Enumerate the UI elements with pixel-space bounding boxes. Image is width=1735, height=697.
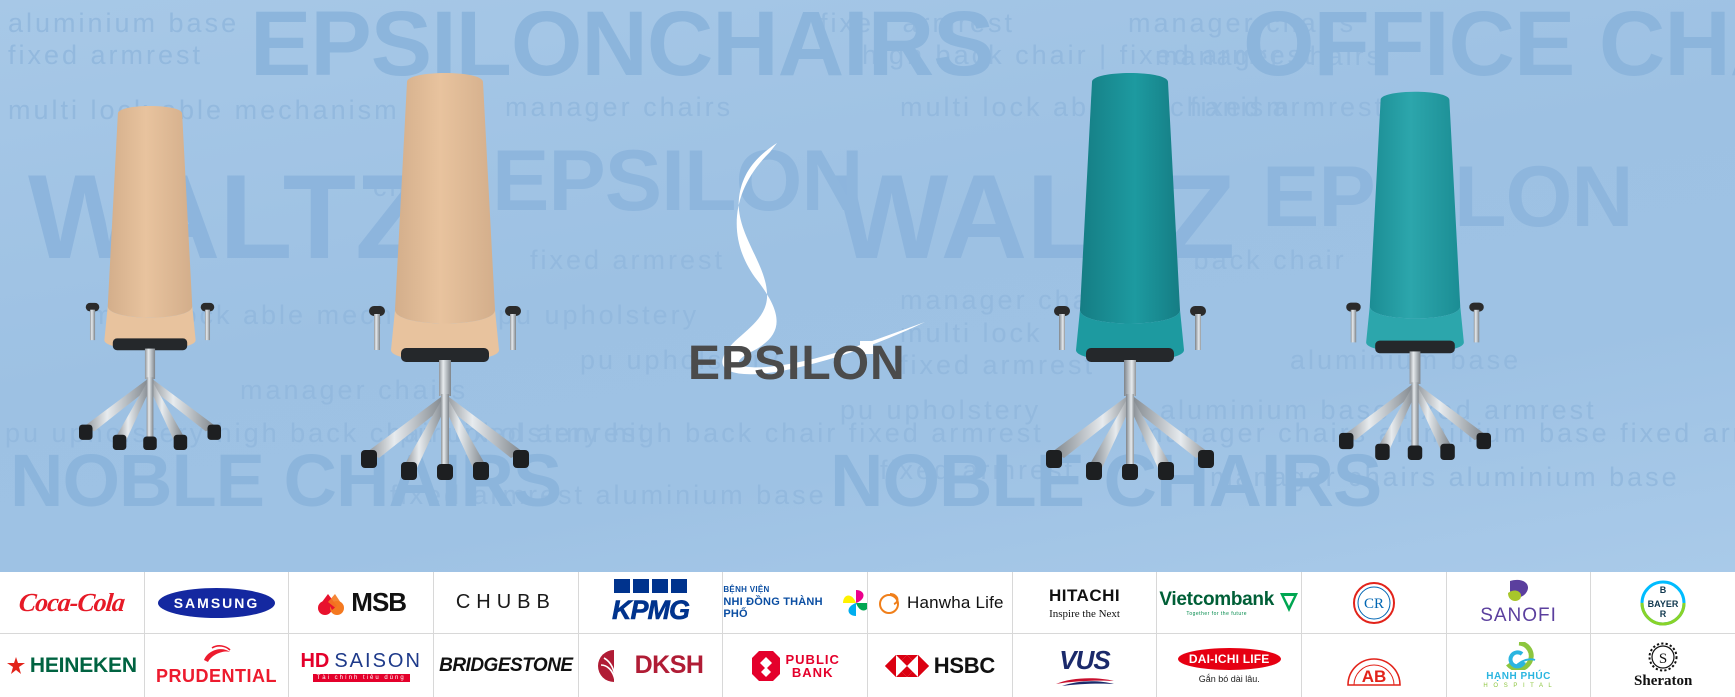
dai-ichi-wordmark: DAI-ICHI LIFE: [1178, 648, 1281, 670]
logo-cell-benh-vien-cho-ray[interactable]: CRBỆNH VIỆN CHỢ RẪY: [1302, 572, 1447, 634]
logo-cell-public-bank[interactable]: PUBLICBANK: [723, 634, 868, 697]
hd-saison-tagline: Tài chính tiêu dùng: [313, 674, 410, 682]
logo-cell-coca-cola[interactable]: Coca-Cola: [0, 572, 145, 634]
hanh-phuc-wordmark: HẠNH PHÚC: [1486, 671, 1551, 682]
logo-cell-hitachi[interactable]: HITACHIInspire the Next: [1013, 572, 1158, 634]
hanwha-wordmark: Hanwha Life: [907, 593, 1004, 613]
saison-wordmark: SAISON: [334, 650, 422, 673]
logo-cell-vietcombank[interactable]: VietcombankTogether for the future: [1157, 572, 1302, 634]
hero-banner: aluminium basefixed armrestmulti lock ab…: [0, 0, 1735, 572]
vietcombank-mark-icon: [1279, 592, 1299, 614]
hanh-phuc-tagline: H O S P I T A L: [1483, 683, 1553, 689]
svg-text:S: S: [1659, 651, 1667, 667]
coca-cola-wordmark: Coca-Cola: [18, 588, 126, 618]
hitachi-wordmark: HITACHI: [1049, 586, 1120, 606]
logo-cell-benh-vien-nhi-dong-thanh-pho[interactable]: BỆNH VIỆNNHI ĐỒNG THÀNH PHỐ: [723, 572, 868, 634]
vus-swoosh-icon: [1054, 676, 1116, 686]
logo-cell-sanofi[interactable]: SANOFI: [1447, 572, 1592, 634]
sanofi-wordmark: SANOFI: [1480, 605, 1557, 627]
bayer-cross-icon: BBAYERR: [1640, 580, 1686, 626]
heineken-star-icon: [7, 657, 25, 675]
hitachi-tagline: Inspire the Next: [1049, 608, 1120, 620]
brand-wordmark: EPSILON: [688, 336, 906, 391]
sheraton-wreath-icon: S: [1646, 642, 1680, 672]
prudential-mark-icon: [200, 644, 234, 664]
benh-vien-line2: NHI ĐỒNG THÀNH PHỐ: [723, 596, 835, 620]
hanwha-mark-icon: [876, 590, 902, 616]
dai-ichi-lockup: DAI-ICHI LIFEGắn bó dài lâu.: [1178, 648, 1281, 684]
bank-wordmark: BANK: [792, 666, 834, 679]
public-wordmark: PUBLIC: [786, 653, 840, 666]
watermark-text: aluminium base: [8, 8, 239, 39]
logo-cell-heineken[interactable]: HEINEKEN: [0, 634, 145, 697]
logo-cell-samsung[interactable]: SAMSUNG: [145, 572, 290, 634]
client-logo-wall: Coca-ColaSAMSUNGMSBCHUBBKPMGBỆNH VIỆNNHI…: [0, 572, 1735, 697]
svg-text:R: R: [1660, 609, 1667, 619]
sanofi-mark-icon: [1504, 579, 1534, 603]
logo-cell-hd-saison[interactable]: HDSAISONTài chính tiêu dùng: [289, 634, 434, 697]
logo-cell-prudential[interactable]: PRUDENTIAL: [145, 634, 290, 697]
kpmg-wordmark: KPMG: [612, 595, 689, 626]
samsung-wordmark: SAMSUNG: [158, 588, 276, 618]
svg-text:CR: CR: [1364, 596, 1384, 612]
vus-lockup: VUS: [1054, 645, 1116, 686]
logo-wall-row-2: HEINEKENPRUDENTIALHDSAISONTài chính tiêu…: [0, 634, 1735, 697]
hd-wordmark: HD: [300, 650, 329, 673]
logo-cell-hanwha-life[interactable]: Hanwha Life: [868, 572, 1013, 634]
kpmg-lockup: KPMG: [612, 579, 689, 626]
logo-cell-hsbc[interactable]: HSBC: [868, 634, 1013, 697]
logo-cell-hanh-phuc-hospital[interactable]: HẠNH PHÚCH O S P I T A L: [1447, 634, 1592, 697]
dksh-palm-icon: [598, 650, 630, 682]
vietcombank-tagline: Together for the future: [1186, 611, 1247, 617]
vus-wordmark: VUS: [1059, 645, 1109, 676]
logo-cell-msb[interactable]: MSB: [289, 572, 434, 634]
chubb-wordmark: CHUBB: [456, 591, 556, 614]
dai-ichi-tagline: Gắn bó dài lâu.: [1199, 674, 1260, 684]
sanofi-lockup: SANOFI: [1480, 579, 1557, 627]
hsbc-hexagon-icon: [885, 653, 929, 679]
prudential-wordmark: PRUDENTIAL: [156, 666, 277, 687]
logo-cell-benh-vien-an-binh[interactable]: ABBỆNH VIỆN AN BÌNH: [1302, 634, 1447, 697]
kpmg-bars-icon: [614, 579, 688, 593]
sheraton-lockup: SSheraton: [1634, 642, 1692, 690]
logo-wall-row-1: Coca-ColaSAMSUNGMSBCHUBBKPMGBỆNH VIỆNNHI…: [0, 572, 1735, 634]
sheraton-wordmark: Sheraton: [1634, 673, 1692, 690]
benh-vien-line1: BỆNH VIỆN: [723, 585, 769, 594]
svg-text:AB: AB: [1362, 667, 1387, 686]
msb-mark-icon: [316, 590, 346, 616]
hanh-phuc-lockup: HẠNH PHÚCH O S P I T A L: [1483, 642, 1553, 689]
logo-cell-bayer[interactable]: BBAYERRBAYER: [1591, 572, 1735, 634]
logo-cell-bridgestone[interactable]: BRIDGESTONE: [434, 634, 579, 697]
prudential-lockup: PRUDENTIAL: [156, 644, 277, 687]
pinwheel-icon: [841, 588, 867, 618]
svg-text:B: B: [1660, 585, 1667, 595]
an-binh-seal-icon: AB: [1346, 645, 1402, 687]
logo-cell-dksh[interactable]: DKSH: [579, 634, 724, 697]
logo-cell-chubb[interactable]: CHUBB: [434, 572, 579, 634]
logo-cell-vus[interactable]: VUS: [1013, 634, 1158, 697]
hsbc-wordmark: HSBC: [934, 653, 995, 679]
logo-cell-dai-ichi-life[interactable]: DAI-ICHI LIFEGắn bó dài lâu.: [1157, 634, 1302, 697]
dksh-wordmark: DKSH: [635, 651, 704, 680]
logo-cell-kpmg[interactable]: KPMG: [579, 572, 724, 634]
hanh-phuc-mark-icon: [1502, 642, 1536, 670]
hitachi-lockup: HITACHIInspire the Next: [1049, 586, 1120, 620]
heineken-wordmark: HEINEKEN: [30, 654, 137, 678]
logo-cell-sheraton[interactable]: SSheraton: [1591, 634, 1735, 697]
svg-text:BAYER: BAYER: [1648, 599, 1679, 609]
cho-ray-seal-icon: CR: [1352, 581, 1396, 625]
bridgestone-wordmark: BRIDGESTONE: [439, 655, 573, 677]
watermark-text: fixed armrest: [8, 40, 203, 71]
public-bank-mark-icon: [751, 650, 781, 682]
hd-saison-lockup: HDSAISONTài chính tiêu dùng: [300, 650, 421, 682]
vietcombank-wordmark: Vietcombank: [1159, 589, 1274, 611]
msb-wordmark: MSB: [351, 587, 406, 618]
page-root: aluminium basefixed armrestmulti lock ab…: [0, 0, 1735, 697]
